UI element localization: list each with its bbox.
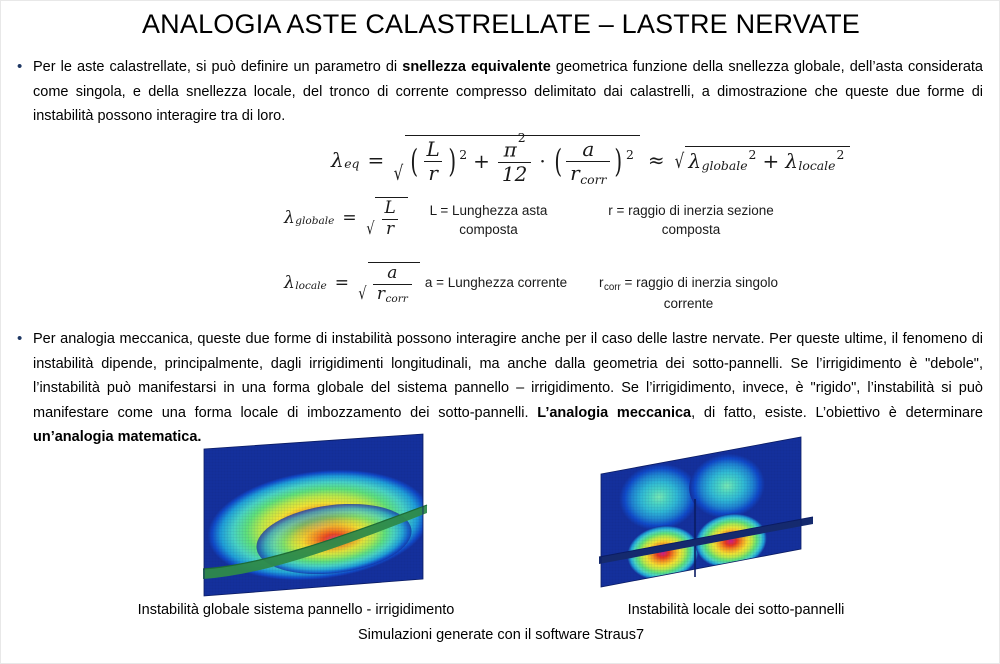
figure-local-buckling	[591, 429, 831, 601]
lambda-globale-subscript: globale	[702, 158, 748, 173]
definition-r: r = raggio di inerzia sezione composta	[591, 201, 791, 239]
equals-sign: =	[342, 208, 356, 228]
page-title: ANALOGIA ASTE CALASTRELLATE – LASTRE NER…	[1, 9, 1000, 40]
fraction-L-over-r: L r	[422, 139, 443, 184]
lambda-symbol: λ	[284, 208, 295, 228]
paren-close: )	[448, 142, 456, 180]
radical-glyph: √	[394, 135, 404, 185]
lambda-subscript: locale	[295, 280, 327, 292]
fraction-a-over-rcorr: a rcorr	[566, 139, 610, 184]
lambda-eq-subscript: eq	[344, 156, 359, 171]
fraction-numerator: L	[422, 139, 443, 161]
exponent-two: 2	[749, 147, 757, 162]
figure-global-buckling	[191, 429, 441, 604]
radical-glyph: √	[366, 197, 374, 239]
bullet-paragraph-1: • Per le aste calastrellate, si può defi…	[15, 55, 983, 129]
exponent-two: 2	[459, 147, 467, 162]
fraction-denominator: r	[382, 219, 398, 239]
equals-sign: =	[367, 148, 384, 172]
bullet-marker-icon: •	[15, 55, 33, 79]
radicand: L r	[375, 197, 407, 239]
radicand: ( L r ) 2 + π2 12 · ( a	[405, 135, 640, 185]
paren-open: (	[410, 142, 418, 180]
paren-open: (	[554, 142, 562, 180]
fraction-denominator: r	[424, 161, 442, 184]
caption-local-buckling: Instabilità locale dei sotto-pannelli	[531, 602, 941, 618]
fraction-numerator: π2	[500, 138, 530, 162]
definition-rcorr: rcorr = raggio di inerzia singolo corren…	[586, 273, 791, 313]
local-buckling-fea-image	[591, 429, 831, 601]
bullet-1-text: Per le aste calastrellate, si può defini…	[33, 55, 983, 129]
plus-sign: +	[762, 149, 779, 173]
caption-global-buckling: Instabilità globale sistema pannello - i…	[61, 602, 531, 618]
approx-sign: ≈	[648, 148, 665, 172]
exponent-two: 2	[836, 147, 844, 162]
equals-sign: =	[335, 273, 349, 293]
definition-a: a = Lunghezza corrente	[406, 273, 586, 292]
lambda-locale-subscript: locale	[798, 158, 835, 173]
fraction-numerator: a	[578, 139, 598, 161]
definition-L: L = Lunghezza asta composta	[406, 201, 571, 239]
sqrt-rhs: √ λglobale2 + λlocale2	[673, 146, 851, 173]
bullet-marker-icon: •	[15, 327, 33, 351]
global-buckling-fea-image	[191, 429, 441, 604]
formula-lambda-globale: λglobale = √ L r	[284, 197, 408, 239]
paren-close: )	[615, 142, 623, 180]
lambda-symbol: λ	[284, 273, 295, 293]
bullet-paragraph-2: • Per analogia meccanica, queste due for…	[15, 327, 983, 450]
bullet-2-text: Per analogia meccanica, queste due forme…	[33, 327, 983, 450]
lambda-subscript: globale	[295, 215, 334, 227]
caption-software-note: Simulazioni generate con il software Str…	[1, 627, 1000, 643]
fraction-denominator: 12	[498, 162, 531, 185]
lambda-globale-symbol: λ	[688, 149, 701, 173]
fraction-pisq-over-12: π2 12	[498, 138, 531, 185]
radical-glyph: √	[358, 262, 366, 304]
fraction-numerator: L	[380, 200, 399, 219]
lambda-locale-symbol: λ	[785, 149, 798, 173]
exponent-two: 2	[626, 147, 634, 162]
multiplication-dot: ·	[539, 149, 545, 173]
radicand: λglobale2 + λlocale2	[685, 146, 850, 173]
formula-lambda-eq: λeq = √ ( L r ) 2 + π2 12	[331, 135, 850, 185]
lambda-eq-symbol: λ	[331, 148, 344, 172]
fraction-denominator: rcorr	[566, 161, 610, 184]
sqrt-outer: √ ( L r ) 2 + π2 12 · (	[392, 135, 640, 185]
mesh-overlay	[601, 437, 801, 587]
plus-sign: +	[473, 149, 490, 173]
sqrt-L-over-r: √ L r	[365, 197, 408, 239]
fraction-numerator: a	[383, 265, 401, 284]
radical-glyph: √	[674, 146, 684, 173]
fraction-L-over-r: L r	[380, 200, 399, 239]
formula-block: λeq = √ ( L r ) 2 + π2 12	[1, 131, 1000, 321]
formula-lambda-locale: λlocale = √ a rcorr	[284, 262, 420, 304]
slide-canvas: ANALOGIA ASTE CALASTRELLATE – LASTRE NER…	[0, 0, 1000, 664]
